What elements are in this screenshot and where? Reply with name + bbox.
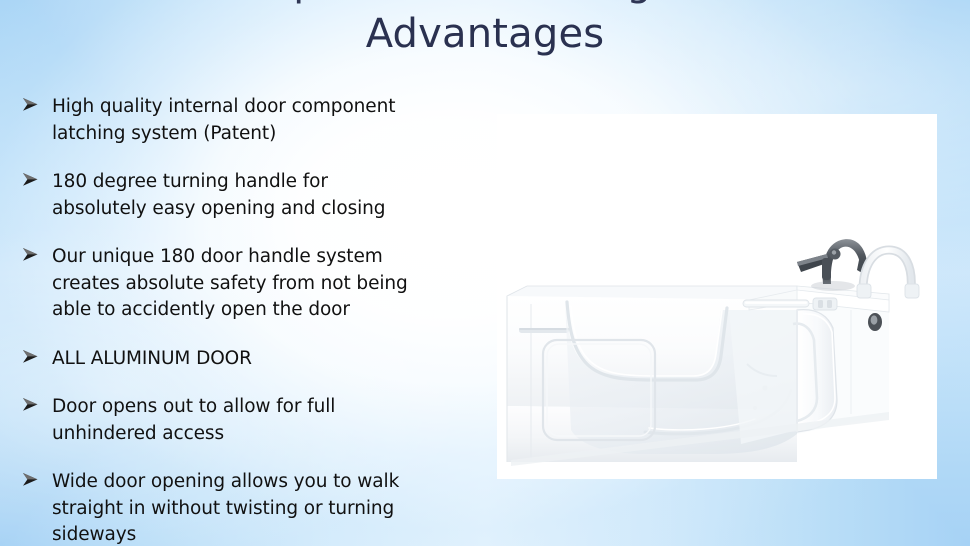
arrowhead-bullet-icon: [22, 169, 52, 187]
walk-in-bathtub-illustration: [497, 114, 937, 479]
arrowhead-bullet-icon: [22, 469, 52, 487]
arrowhead-bullet-icon: [22, 394, 52, 412]
list-item: Wide door opening allows you to walk str…: [22, 469, 474, 546]
advantages-bullet-list: High quality internal door component lat…: [22, 94, 474, 546]
list-item-label: Door opens out to allow for full unhinde…: [52, 394, 474, 447]
list-item-label: ALL ALUMINUM DOOR: [52, 346, 474, 373]
arrowhead-bullet-icon: [22, 244, 52, 262]
list-item: Door opens out to allow for full unhinde…: [22, 394, 474, 447]
arrowhead-bullet-icon: [22, 346, 52, 364]
list-item-label: 180 degree turning handle for absolutely…: [52, 169, 474, 222]
slide-title-clipped-line: product advantage: [0, 0, 970, 8]
presentation-slide: product advantage Advantages High qualit…: [0, 0, 970, 546]
list-item-label: High quality internal door component lat…: [52, 94, 474, 147]
list-item: 180 degree turning handle for absolutely…: [22, 169, 474, 222]
list-item: High quality internal door component lat…: [22, 94, 474, 147]
list-item: ALL ALUMINUM DOOR: [22, 346, 474, 373]
page-title: Advantages: [0, 8, 970, 60]
slide-title-block: product advantage Advantages: [0, 0, 970, 60]
list-item-label: Wide door opening allows you to walk str…: [52, 469, 474, 546]
list-item: Our unique 180 door handle system create…: [22, 244, 474, 324]
list-item-label: Our unique 180 door handle system create…: [52, 244, 474, 324]
product-image-panel: White walk-in bathtub with outward openi…: [497, 114, 937, 479]
arrowhead-bullet-icon: [22, 94, 52, 112]
